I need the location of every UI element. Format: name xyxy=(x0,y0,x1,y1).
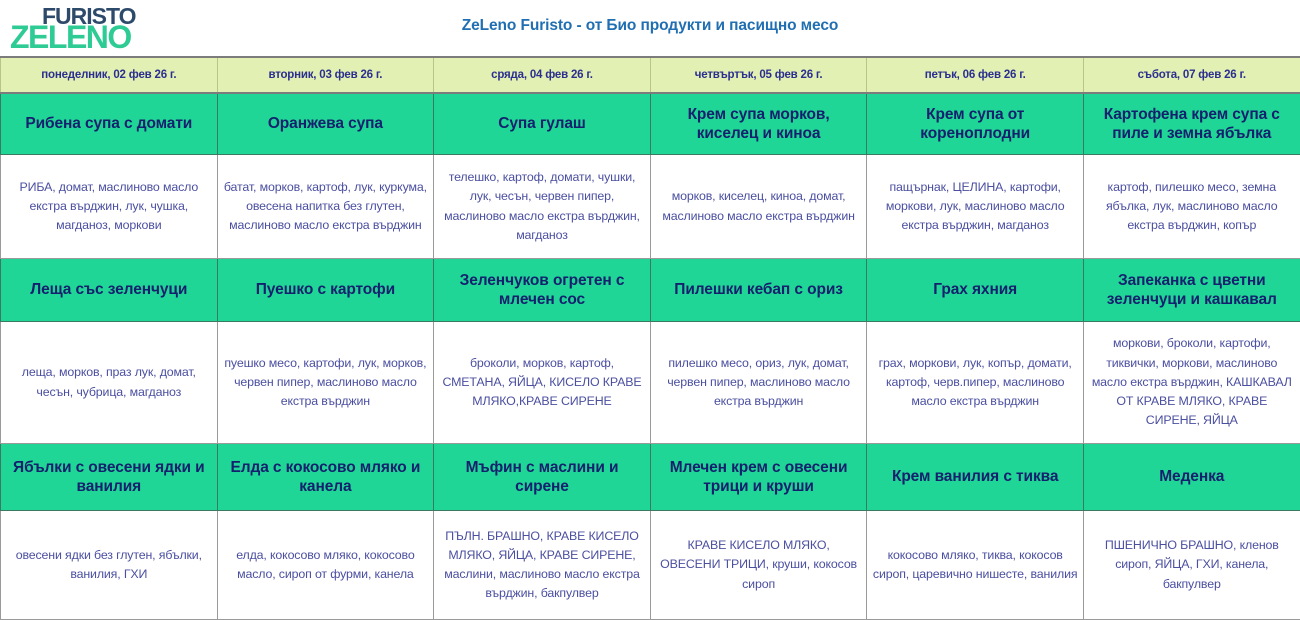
main-dish-tuesday: Пуешко с картофи xyxy=(217,259,434,322)
dessert-ingredients-saturday: ПШЕНИЧНО БРАШНО, кленов сироп, ЯЙЦА, ГХИ… xyxy=(1083,511,1300,620)
soup-dish-monday: Рибена супа с домати xyxy=(1,93,218,155)
soup-ingredients-wednesday: телешко, картоф, домати, чушки, лук, чес… xyxy=(434,155,651,259)
dessert-dish-friday: Крем ванилия с тиква xyxy=(867,444,1084,511)
date-cell-monday: понеделник, 02 фев 26 г. xyxy=(1,57,218,93)
dessert-ingredients-tuesday: елда, кокосово мляко, кокосово масло, си… xyxy=(217,511,434,620)
soup-ingredients-friday: пащърнак, ЦЕЛИНА, картофи, моркови, лук,… xyxy=(867,155,1084,259)
soup-ingredients-thursday: морков, киселец, киноа, домат, маслиново… xyxy=(650,155,867,259)
main-ingredients-monday: леща, морков, праз лук, домат, чесън, чу… xyxy=(1,322,218,444)
soup-dish-row: Рибена супа с домати Оранжева супа Супа … xyxy=(1,93,1300,155)
dessert-ingredients-monday: овесени ядки без глутен, ябълки, ванилия… xyxy=(1,511,218,620)
soup-ingredients-monday: РИБА, домат, маслиново масло екстра върд… xyxy=(1,155,218,259)
main-ingredients-row: леща, морков, праз лук, домат, чесън, чу… xyxy=(1,322,1300,444)
dessert-dish-thursday: Млечен крем с овесени трици и круши xyxy=(650,444,867,511)
dessert-ingredients-thursday: КРАВЕ КИСЕЛО МЛЯКО, ОВЕСЕНИ ТРИЦИ, круши… xyxy=(650,511,867,620)
page-header: FURISTO ZELENO ZeLeno Furisto - от Био п… xyxy=(0,0,1300,56)
main-dish-friday: Грах яхния xyxy=(867,259,1084,322)
page-title: ZeLeno Furisto - от Био продукти и пасищ… xyxy=(0,17,1300,35)
soup-ingredients-tuesday: батат, морков, картоф, лук, куркума, ове… xyxy=(217,155,434,259)
main-dish-saturday: Запеканка с цветни зеленчуци и кашкавал xyxy=(1083,259,1300,322)
soup-ingredients-row: РИБА, домат, маслиново масло екстра върд… xyxy=(1,155,1300,259)
main-dish-row: Леща със зеленчуци Пуешко с картофи Зеле… xyxy=(1,259,1300,322)
main-dish-thursday: Пилешки кебап с ориз xyxy=(650,259,867,322)
main-dish-wednesday: Зеленчуков огретен с млечен сос xyxy=(434,259,651,322)
dessert-dish-row: Ябълки с овесени ядки и ванилия Елда с к… xyxy=(1,444,1300,511)
date-cell-friday: петък, 06 фев 26 г. xyxy=(867,57,1084,93)
date-cell-tuesday: вторник, 03 фев 26 г. xyxy=(217,57,434,93)
dessert-ingredients-friday: кокосово мляко, тиква, кокосов сироп, ца… xyxy=(867,511,1084,620)
main-ingredients-friday: грах, моркови, лук, копър, домати, карто… xyxy=(867,322,1084,444)
main-ingredients-saturday: моркови, броколи, картофи, тиквички, мор… xyxy=(1083,322,1300,444)
dessert-dish-wednesday: Мъфин с маслини и сирене xyxy=(434,444,651,511)
soup-dish-friday: Крем супа от кореноплодни xyxy=(867,93,1084,155)
main-ingredients-thursday: пилешко месо, ориз, лук, домат, червен п… xyxy=(650,322,867,444)
soup-dish-saturday: Картофена крем супа с пиле и земна ябълк… xyxy=(1083,93,1300,155)
dessert-ingredients-wednesday: ПЪЛН. БРАШНО, КРАВЕ КИСЕЛО МЛЯКО, ЯЙЦА, … xyxy=(434,511,651,620)
dessert-dish-tuesday: Елда с кокосово мляко и канела xyxy=(217,444,434,511)
date-header-row: понеделник, 02 фев 26 г. вторник, 03 фев… xyxy=(1,57,1300,93)
date-cell-saturday: събота, 07 фев 26 г. xyxy=(1083,57,1300,93)
main-dish-monday: Леща със зеленчуци xyxy=(1,259,218,322)
dessert-dish-monday: Ябълки с овесени ядки и ванилия xyxy=(1,444,218,511)
soup-dish-thursday: Крем супа морков, киселец и киноа xyxy=(650,93,867,155)
date-cell-wednesday: сряда, 04 фев 26 г. xyxy=(434,57,651,93)
dessert-ingredients-row: овесени ядки без глутен, ябълки, ванилия… xyxy=(1,511,1300,620)
dessert-dish-saturday: Меденка xyxy=(1083,444,1300,511)
date-cell-thursday: четвъртък, 05 фев 26 г. xyxy=(650,57,867,93)
weekly-menu-table: понеделник, 02 фев 26 г. вторник, 03 фев… xyxy=(0,56,1300,620)
soup-dish-tuesday: Оранжева супа xyxy=(217,93,434,155)
main-ingredients-wednesday: броколи, морков, картоф, СМЕТАНА, ЯЙЦА, … xyxy=(434,322,651,444)
soup-dish-wednesday: Супа гулаш xyxy=(434,93,651,155)
soup-ingredients-saturday: картоф, пилешко месо, земна ябълка, лук,… xyxy=(1083,155,1300,259)
main-ingredients-tuesday: пуешко месо, картофи, лук, морков, черве… xyxy=(217,322,434,444)
